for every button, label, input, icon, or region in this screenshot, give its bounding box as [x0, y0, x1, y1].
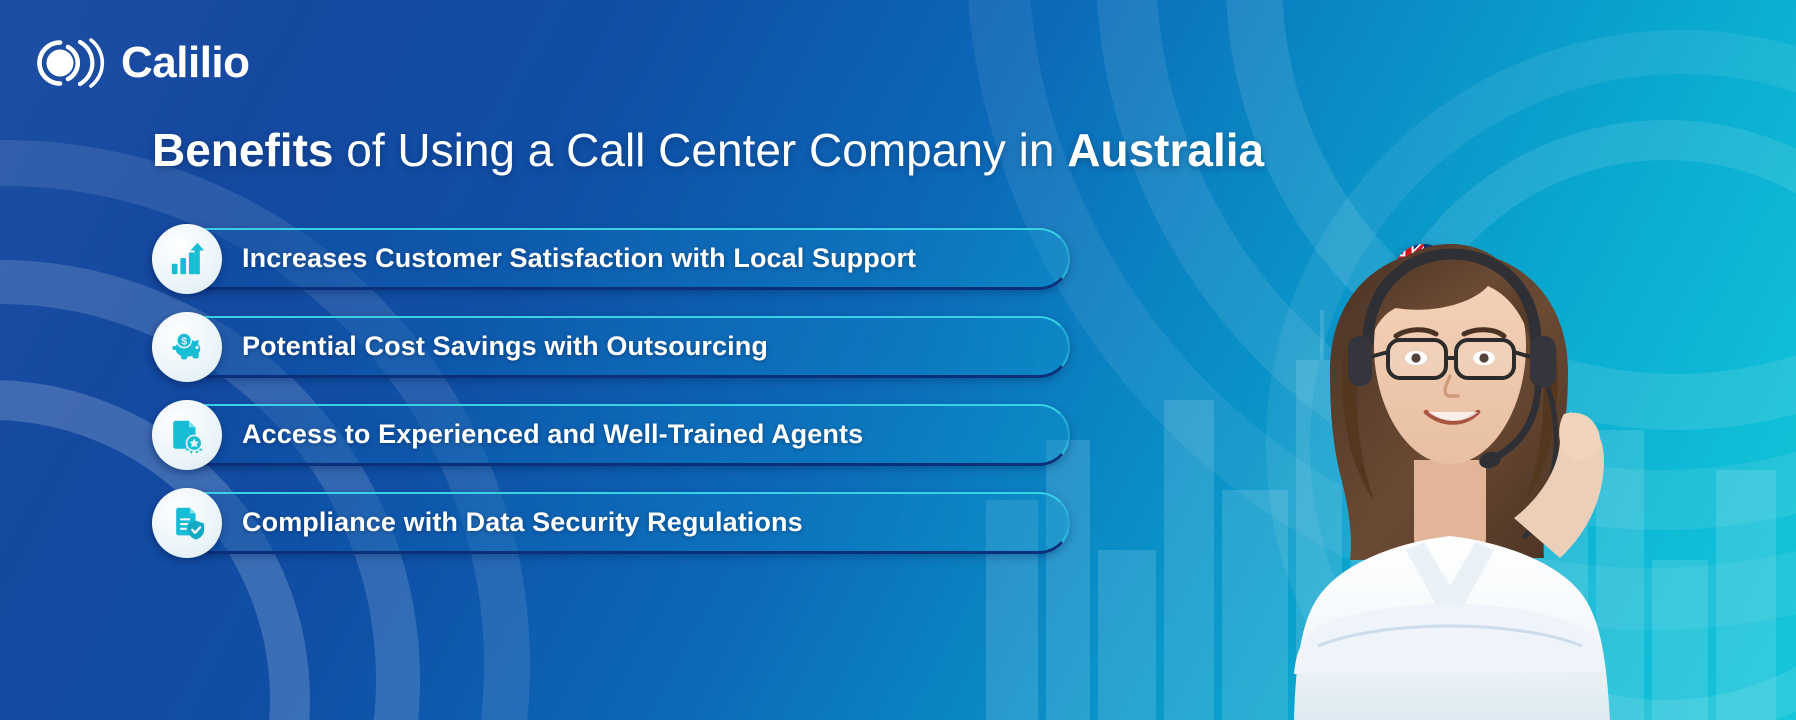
document-shield-check-icon [152, 488, 222, 558]
svg-text:$: $ [181, 336, 187, 347]
benefit-item-1[interactable]: Increases Customer Satisfaction with Loc… [152, 228, 1070, 290]
bar-chart-growth-arrow-icon [152, 224, 222, 294]
call-center-agent-with-headset-photo [1218, 160, 1758, 720]
benefit-item-2[interactable]: $ Potential Cost Savings with Outsourcin… [152, 316, 1070, 378]
sound-wave-circle-icon [30, 28, 108, 98]
title-lead-bold: Benefits [152, 124, 333, 176]
benefits-list: Increases Customer Satisfaction with Loc… [152, 228, 1072, 580]
piggy-bank-dollar-icon: $ [152, 312, 222, 382]
certificate-award-document-icon [152, 400, 222, 470]
brand-logo[interactable]: Calilio [30, 28, 250, 98]
benefit-item-3[interactable]: Access to Experienced and Well-Trained A… [152, 404, 1070, 466]
benefit-item-4[interactable]: Compliance with Data Security Regulation… [152, 492, 1070, 554]
benefit-label: Compliance with Data Security Regulation… [242, 507, 803, 538]
benefit-label: Access to Experienced and Well-Trained A… [242, 419, 863, 450]
page-title: Benefits of Using a Call Center Company … [152, 124, 1264, 177]
brand-name: Calilio [121, 41, 250, 85]
banner-root: Calilio Benefits of Using a Call Center … [0, 0, 1796, 720]
benefit-label: Increases Customer Satisfaction with Loc… [242, 243, 916, 274]
benefit-label: Potential Cost Savings with Outsourcing [242, 331, 768, 362]
title-middle: of Using a Call Center Company in [333, 124, 1067, 176]
